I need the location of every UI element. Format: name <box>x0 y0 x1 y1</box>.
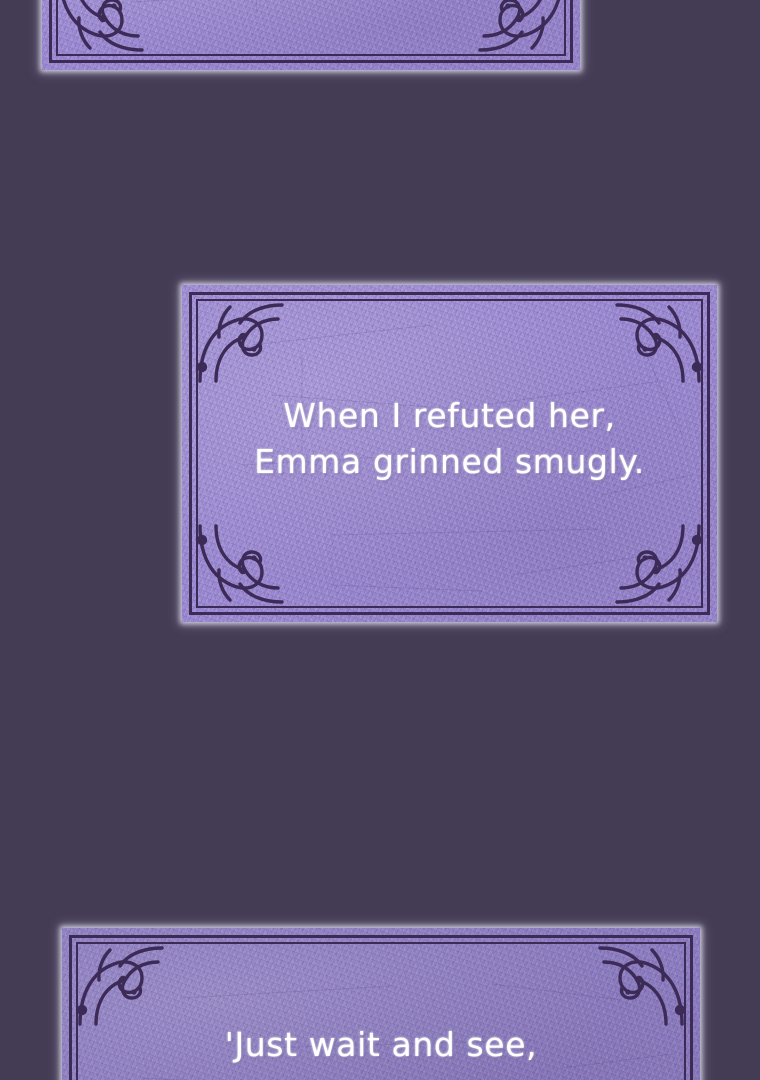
corner-flourish-top-left <box>66 932 170 1036</box>
dialogue-text-middle: When I refuted her, Emma grinned smugly. <box>182 393 717 485</box>
dialogue-panel-top[interactable] <box>42 0 580 70</box>
panel-frame-outer <box>49 0 573 63</box>
corner-flourish-top-right <box>592 932 696 1036</box>
corner-flourish-bottom-left <box>186 514 290 618</box>
corner-flourish-bottom-right <box>472 0 576 66</box>
corner-flourish-bottom-right <box>609 514 713 618</box>
corner-flourish-top-right <box>609 289 713 393</box>
dialogue-panel-middle[interactable]: When I refuted her, Emma grinned smugly. <box>182 285 717 622</box>
scratch-texture <box>42 0 580 70</box>
panel-frame-inner <box>56 0 566 56</box>
corner-flourish-bottom-left <box>46 0 150 66</box>
comic-page[interactable]: When I refuted her, Emma grinned smugly. <box>0 0 760 1080</box>
paper-texture <box>42 0 580 70</box>
dialogue-panel-bottom[interactable]: 'Just wait and see, <box>62 928 700 1080</box>
corner-flourish-top-left <box>186 289 290 393</box>
dialogue-text-bottom: 'Just wait and see, <box>62 1022 700 1068</box>
